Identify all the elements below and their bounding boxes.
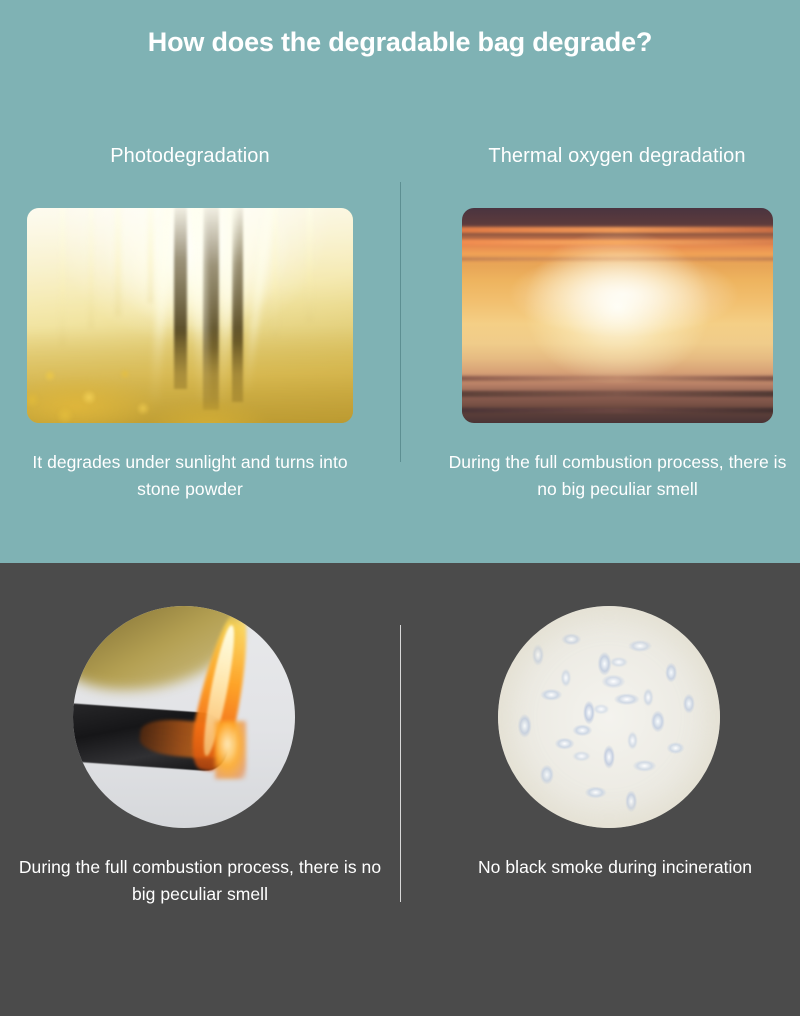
forest-trunk-pale-3 (115, 208, 121, 316)
forest-trunk-pale-5 (272, 208, 278, 337)
forest-trunk-pale-1 (60, 208, 65, 346)
caption-photodegradation: It degrades under sunlight and turns int… (15, 449, 365, 503)
caption-combustion: During the full combustion process, ther… (15, 854, 385, 908)
top-column-divider (400, 182, 401, 462)
forest-trunk-pale-2 (89, 208, 93, 328)
caption-thermal-oxygen-degradation: During the full combustion process, ther… (445, 449, 790, 503)
sunset-sun-glow (462, 208, 773, 423)
forest-trunk-pale-4 (148, 208, 153, 303)
burning-bag-photo (73, 606, 295, 828)
forest-trunk-pale-6 (307, 208, 312, 322)
section-label-photodegradation: Photodegradation (27, 145, 353, 168)
sunlit-forest-photo (27, 208, 353, 423)
top-panel: How does the degradable bag degrade? Pho… (0, 0, 800, 563)
flame-base-glow (215, 721, 246, 779)
caption-incineration: No black smoke during incineration (430, 854, 800, 881)
section-label-thermal-oxygen-degradation: Thermal oxygen degradation (460, 145, 774, 168)
bottom-column-divider (400, 625, 401, 902)
degradable-bag-infographic: How does the degradable bag degrade? Pho… (0, 0, 800, 1016)
pellets-edge-vignette (498, 606, 720, 828)
forest-foliage-layer (27, 350, 170, 423)
sunset-sky-photo (462, 208, 773, 423)
page-title: How does the degradable bag degrade? (0, 27, 800, 58)
plastic-pellets-photo (498, 606, 720, 828)
